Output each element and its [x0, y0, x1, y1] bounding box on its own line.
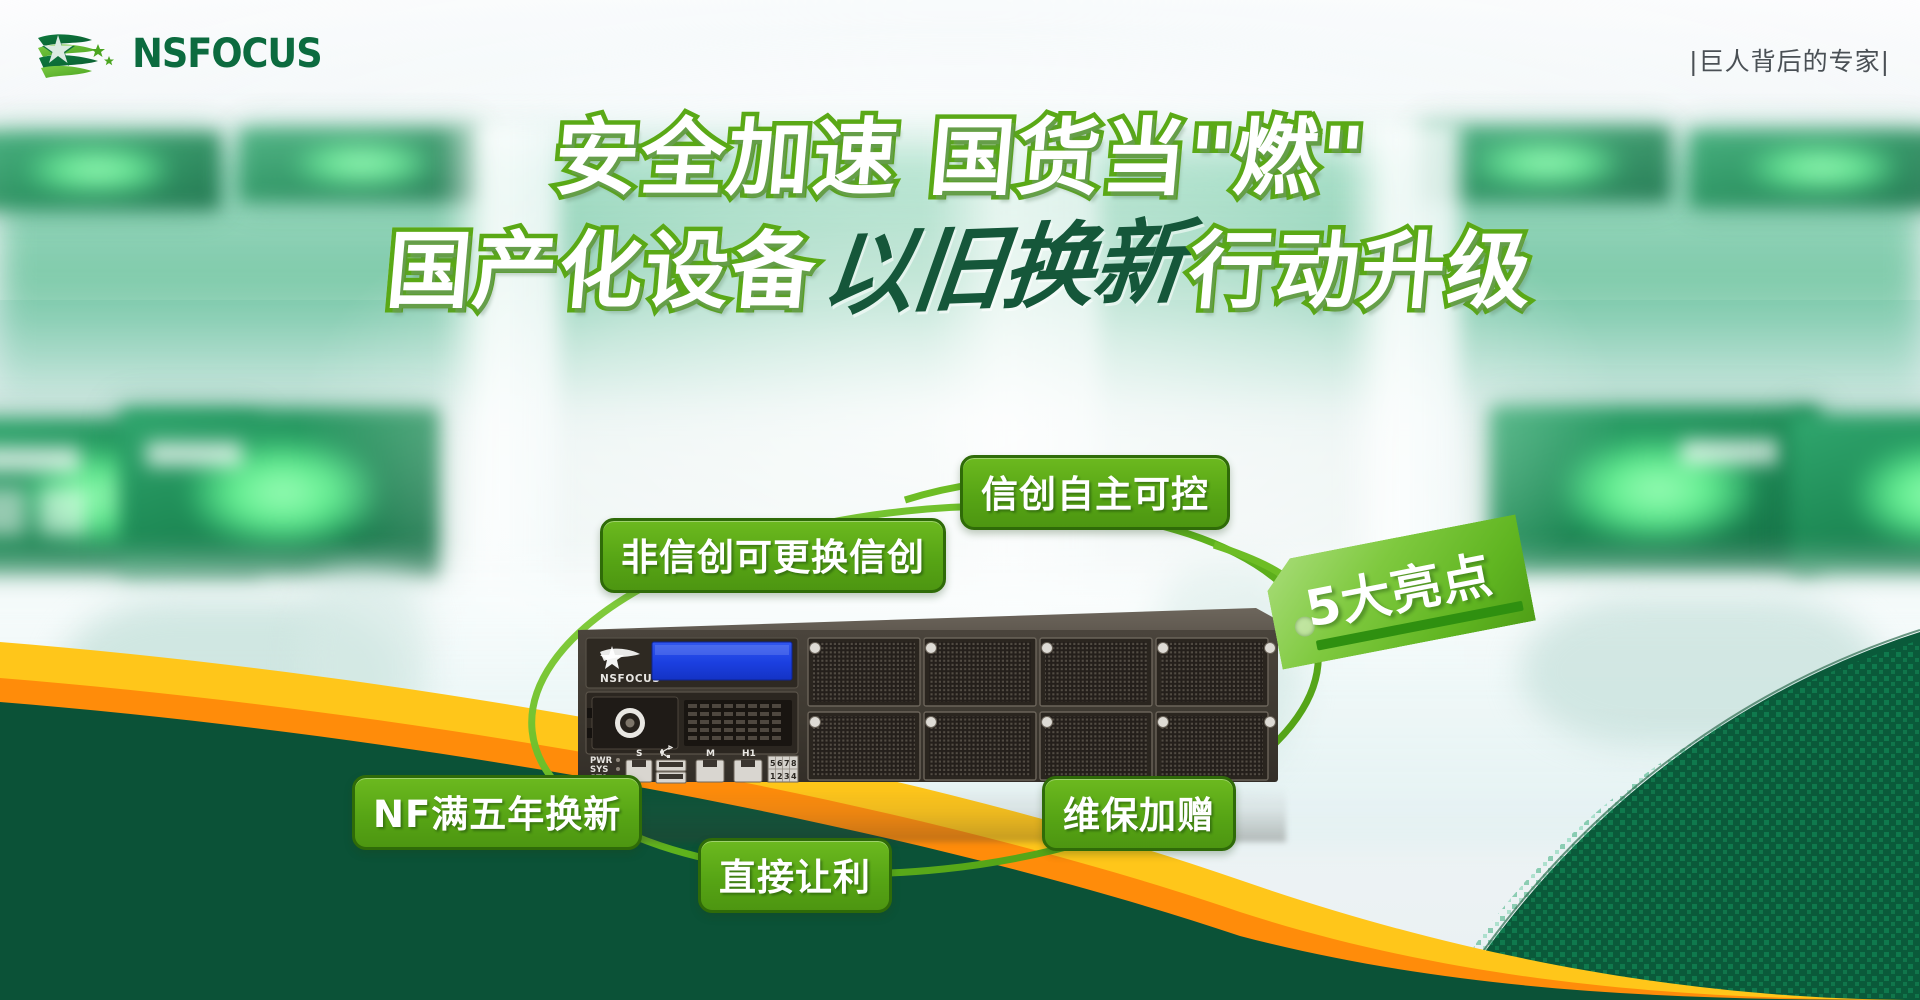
appliance-led-indicator: [616, 767, 620, 771]
appliance-port-label-s: S: [636, 749, 642, 759]
svg-text:8: 8: [791, 759, 797, 768]
appliance-drive-bay: [924, 712, 1036, 780]
appliance-drive-bay: [1040, 638, 1152, 706]
svg-text:6: 6: [777, 759, 783, 768]
nsfocus-appliance: NSFOCUS: [556, 596, 1296, 796]
appliance-drive-bay: [1040, 712, 1152, 780]
appliance-drive-bay: [1156, 712, 1276, 780]
appliance-illustration: NSFOCUS: [556, 596, 1296, 796]
appliance-drive-bay: [808, 638, 920, 706]
appliance-drive-bay: [808, 712, 920, 780]
feature-badge-label: NF满五年换新: [373, 784, 621, 838]
svg-text:5: 5: [770, 759, 776, 768]
appliance-port-label-m: M: [706, 749, 715, 759]
feature-badge-label: 非信创可更换信创: [621, 527, 925, 581]
svg-text:4: 4: [791, 772, 797, 781]
feature-badge-label: 信创自主可控: [981, 464, 1209, 518]
feature-badge-maintenance-bonus[interactable]: 维保加赠: [1042, 776, 1236, 851]
feature-badge-label: 维保加赠: [1063, 785, 1215, 839]
appliance-brand-text: NSFOCUS: [600, 673, 660, 685]
appliance-port-label-h1: H1: [742, 749, 756, 759]
appliance-led-indicator: [616, 758, 620, 762]
appliance-drive-bay: [1156, 638, 1276, 706]
banner-stage: NSFOCUS |巨人背后的专家| 安全加速 国货当"燃" 国产化设备以旧换新行…: [0, 0, 1920, 1000]
svg-text:2: 2: [777, 772, 783, 781]
feature-badge-direct-discount[interactable]: 直接让利: [698, 838, 892, 913]
feature-badge-label: 直接让利: [719, 847, 871, 901]
feature-badge-nf-five-year-renew[interactable]: NF满五年换新: [352, 775, 642, 850]
feature-badge-non-xinchuang-replace[interactable]: 非信创可更换信创: [600, 518, 946, 593]
svg-text:7: 7: [784, 759, 790, 768]
svg-text:3: 3: [784, 772, 790, 781]
feature-badge-xinchuang-autonomous[interactable]: 信创自主可控: [960, 455, 1230, 530]
appliance-drive-bay: [924, 638, 1036, 706]
svg-text:1: 1: [770, 772, 776, 781]
